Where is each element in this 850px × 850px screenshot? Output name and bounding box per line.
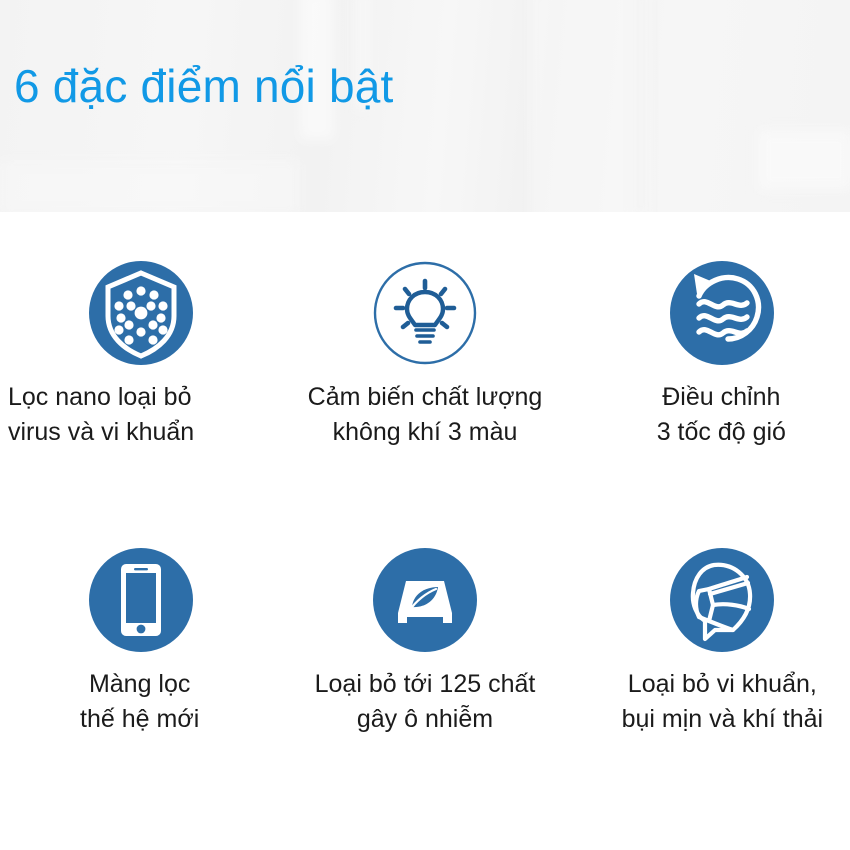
feature-item-bacteria-dust-removal: Loại bỏ vi khuẩn, bụi mịn và khí thải [567,547,850,832]
feature-row-1: Lọc nano loại bỏ virus và vi khuẩn [0,260,850,545]
smartphone-icon [88,547,194,653]
feature-item-new-filter-membrane: Màng lọc thế hệ mới [0,547,283,832]
feature-caption: Lọc nano loại bỏ virus và vi khuẩn [8,380,194,450]
banner-ghost-artifact [530,0,650,212]
feature-caption: Loại bỏ vi khuẩn, bụi mịn và khí thải [622,667,824,737]
feature-caption-line-1: Loại bỏ tới 125 chất [315,667,536,702]
airflow-speed-icon [669,260,775,366]
feature-caption: Loại bỏ tới 125 chất gây ô nhiễm [315,667,536,737]
feature-caption-line-2: không khí 3 màu [308,415,543,450]
feature-caption: Cảm biến chất lượng không khí 3 màu [308,380,543,450]
feature-caption-line-1: Cảm biến chất lượng [308,380,543,415]
feature-caption: Màng lọc thế hệ mới [80,667,199,737]
feature-caption-line-2: thế hệ mới [80,702,199,737]
feature-caption: Điều chỉnh 3 tốc độ gió [657,380,786,450]
feature-caption-line-1: Lọc nano loại bỏ [8,380,194,415]
feature-row-2: Màng lọc thế hệ mới Loại bỏ tới 125 chất [0,547,850,832]
feature-caption-line-2: 3 tốc độ gió [657,415,786,450]
feature-caption-line-1: Điều chỉnh [657,380,786,415]
infographic-page: 6 đặc điểm nổi bật [0,0,850,850]
eco-car-leaf-icon [372,547,478,653]
feature-caption-line-2: virus và vi khuẩn [8,415,194,450]
feature-caption-line-2: bụi mịn và khí thải [622,702,824,737]
face-mask-icon [669,547,775,653]
feature-caption-line-2: gây ô nhiễm [315,702,536,737]
banner-ghost-artifact [636,0,646,212]
lightbulb-sensor-icon [372,260,478,366]
feature-item-pollutant-removal: Loại bỏ tới 125 chất gây ô nhiễm [283,547,566,832]
feature-item-air-quality-sensor: Cảm biến chất lượng không khí 3 màu [283,260,566,545]
feature-item-fan-speed: Điều chỉnh 3 tốc độ gió [567,260,850,545]
feature-grid: Lọc nano loại bỏ virus và vi khuẩn [0,212,850,850]
feature-caption-line-1: Loại bỏ vi khuẩn, [622,667,824,702]
shield-nano-filter-icon [88,260,194,366]
hero-banner: 6 đặc điểm nổi bật [0,0,850,212]
banner-ghost-artifact [758,130,850,190]
feature-item-nano-filter: Lọc nano loại bỏ virus và vi khuẩn [0,260,283,545]
feature-caption-line-1: Màng lọc [80,667,199,702]
page-title: 6 đặc điểm nổi bật [14,58,394,114]
banner-ghost-artifact [0,160,300,212]
